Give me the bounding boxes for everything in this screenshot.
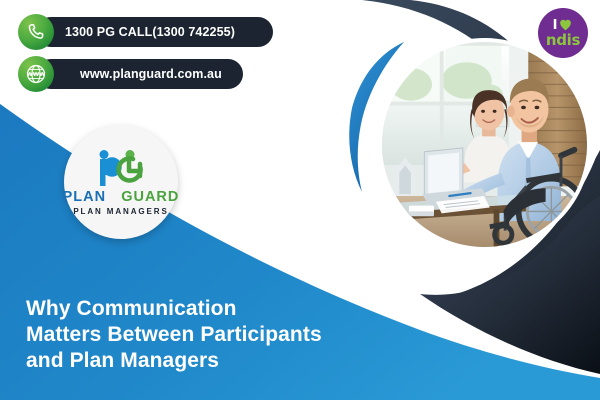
banner-root: 1300 PG CALL(1300 742255) WWW www.plangu… bbox=[0, 0, 600, 400]
contact-website[interactable]: WWW www.planguard.com.au bbox=[18, 56, 222, 92]
page-title: Why Communication Matters Between Partic… bbox=[26, 296, 322, 374]
svg-text:WWW: WWW bbox=[27, 72, 47, 78]
page-title-line-3: and Plan Managers bbox=[26, 348, 322, 374]
phone-icon bbox=[18, 14, 54, 50]
contact-website-label: www.planguard.com.au bbox=[80, 59, 222, 89]
globe-www-icon: WWW bbox=[18, 56, 54, 92]
logo-word-plan: PLAN bbox=[63, 189, 106, 205]
contact-phone[interactable]: 1300 PG CALL(1300 742255) bbox=[18, 14, 235, 50]
ndis-badge-word: ndis bbox=[546, 33, 580, 48]
ndis-badge-top-row: I bbox=[553, 18, 574, 32]
plan-guard-logo-tagline: PLAN MANAGERS bbox=[73, 207, 168, 216]
plan-guard-logo-wordmark: PLAN GUARD bbox=[63, 190, 180, 205]
participant-and-plan-manager-photo bbox=[378, 38, 591, 251]
page-title-line-2: Matters Between Participants bbox=[26, 322, 322, 348]
page-title-line-1: Why Communication bbox=[26, 296, 322, 322]
ndis-badge-i: I bbox=[553, 19, 558, 32]
heart-icon bbox=[558, 18, 573, 32]
plan-guard-logo-mark bbox=[90, 148, 152, 188]
contact-phone-label: 1300 PG CALL(1300 742255) bbox=[65, 17, 235, 47]
i-love-ndis-badge: I ndis bbox=[538, 8, 588, 58]
logo-word-guard: GUARD bbox=[121, 189, 179, 205]
plan-guard-logo[interactable]: PLAN GUARD PLAN MANAGERS bbox=[64, 125, 178, 239]
